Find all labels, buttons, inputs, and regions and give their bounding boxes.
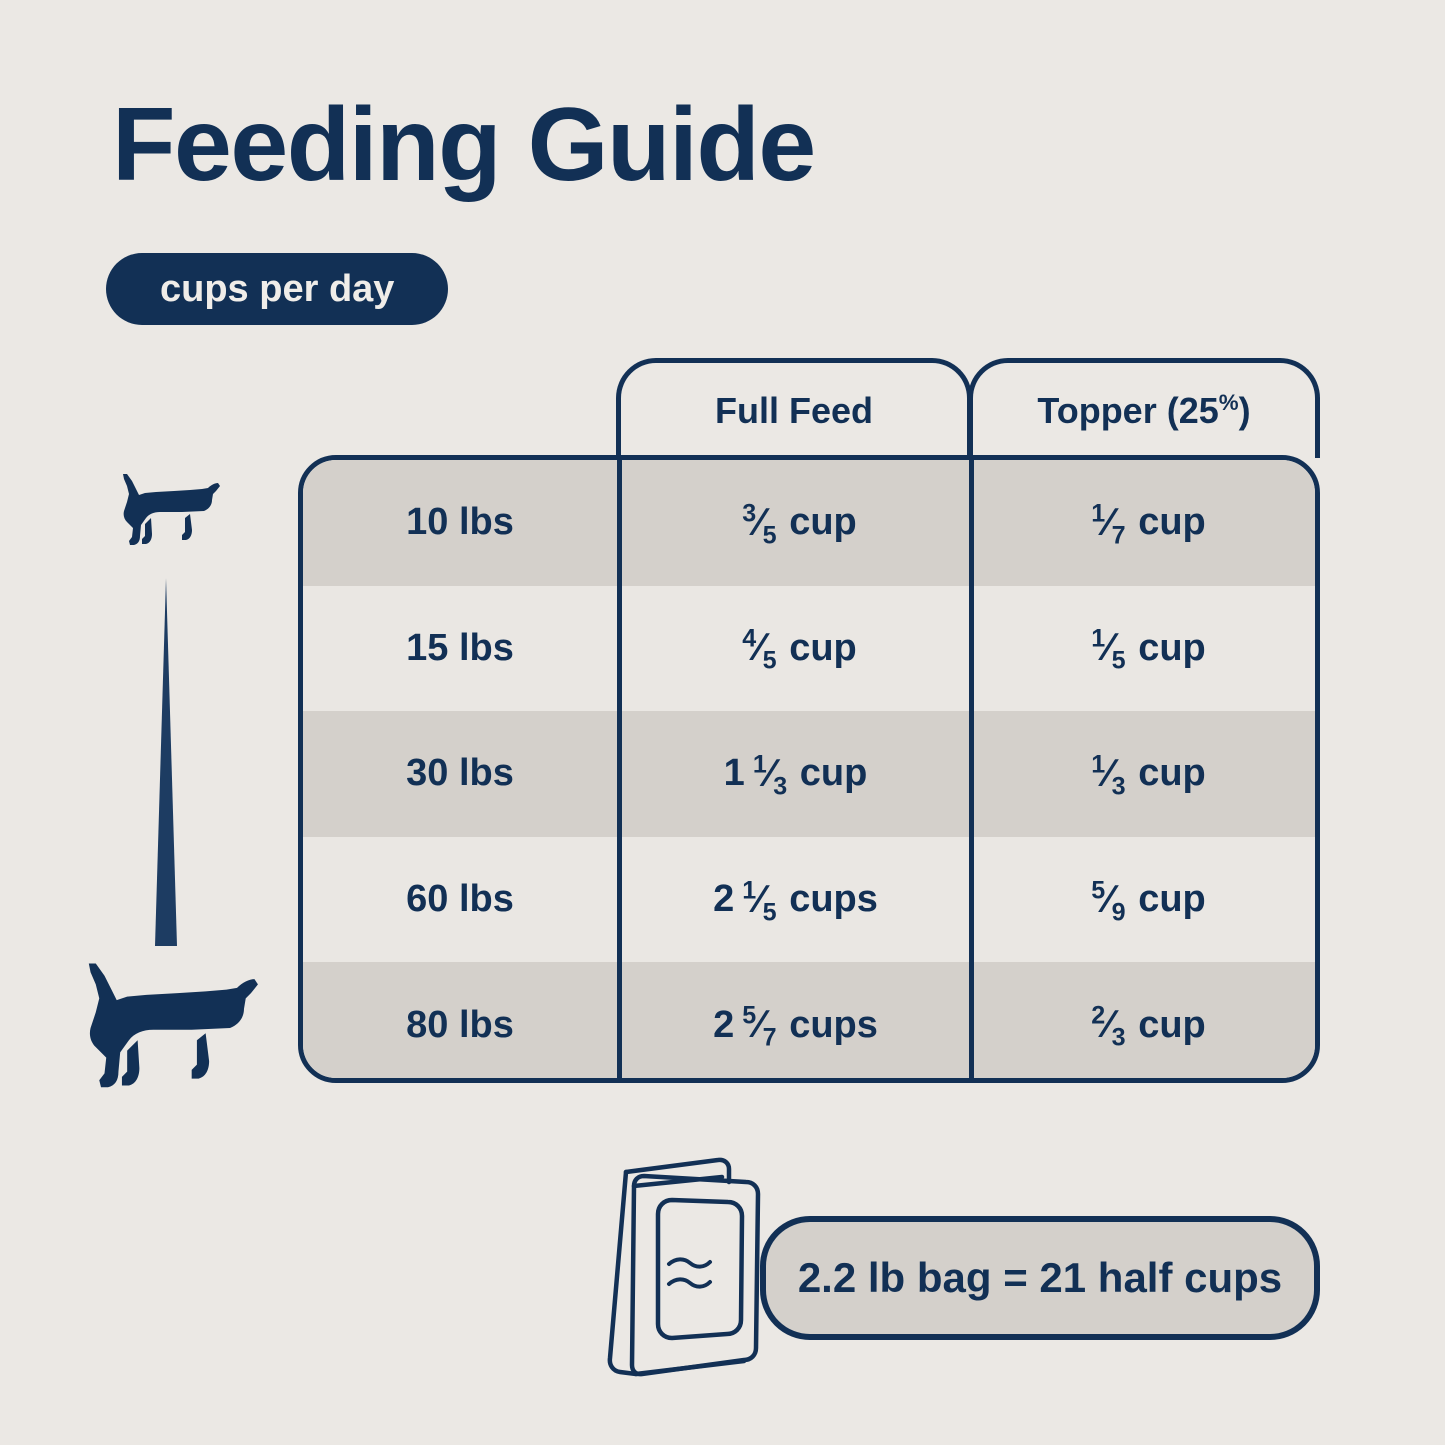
table-row: 15 lbs 4⁄5 cup 1⁄5 cup	[303, 586, 1315, 712]
page-title: Feeding Guide	[112, 93, 815, 197]
size-gradient-wedge-icon	[146, 578, 188, 946]
feeding-guide-infographic: Feeding Guide cups per day Full Feed Top…	[0, 0, 1445, 1445]
column-header-topper: Topper (25%)	[968, 358, 1320, 458]
bag-yield-banner: 2.2 lb bag = 21 half cups	[760, 1216, 1320, 1340]
bag-yield-text: 2.2 lb bag = 21 half cups	[798, 1254, 1282, 1302]
cell-topper: 2⁄3 cup	[969, 962, 1315, 1083]
cell-full-feed: 11⁄3 cup	[617, 711, 969, 837]
table-row: 80 lbs 25⁄7 cups 2⁄3 cup	[303, 962, 1315, 1083]
cell-weight: 10 lbs	[303, 460, 617, 586]
column-header-topper-label: Topper (25%)	[1037, 390, 1250, 432]
cell-weight: 60 lbs	[303, 837, 617, 963]
cell-full-feed: 25⁄7 cups	[617, 962, 969, 1083]
table-row: 60 lbs 21⁄5 cups 5⁄9 cup	[303, 837, 1315, 963]
dog-silhouette-small-icon	[118, 472, 224, 550]
food-bag-outline-icon	[596, 1152, 786, 1392]
table-row: 10 lbs 3⁄5 cup 1⁄7 cup	[303, 460, 1315, 586]
column-header-full-feed: Full Feed	[616, 358, 972, 458]
dog-silhouette-large-icon	[80, 960, 265, 1096]
table-row: 30 lbs 11⁄3 cup 1⁄3 cup	[303, 711, 1315, 837]
feeding-table: 10 lbs 3⁄5 cup 1⁄7 cup 15 lbs 4⁄5 cup 1⁄…	[298, 455, 1320, 1083]
cups-per-day-badge: cups per day	[106, 253, 448, 325]
cell-weight: 30 lbs	[303, 711, 617, 837]
cell-topper: 1⁄7 cup	[969, 460, 1315, 586]
cell-topper: 1⁄5 cup	[969, 586, 1315, 712]
cell-full-feed: 4⁄5 cup	[617, 586, 969, 712]
size-scale	[70, 460, 300, 1090]
cell-topper: 5⁄9 cup	[969, 837, 1315, 963]
badge-label: cups per day	[160, 268, 394, 311]
column-header-full-feed-label: Full Feed	[715, 390, 873, 432]
cell-topper: 1⁄3 cup	[969, 711, 1315, 837]
cell-full-feed: 3⁄5 cup	[617, 460, 969, 586]
table-header-tabs: Full Feed Topper (25%)	[616, 358, 1320, 458]
cell-weight: 80 lbs	[303, 962, 617, 1083]
cell-full-feed: 21⁄5 cups	[617, 837, 969, 963]
cell-weight: 15 lbs	[303, 586, 617, 712]
